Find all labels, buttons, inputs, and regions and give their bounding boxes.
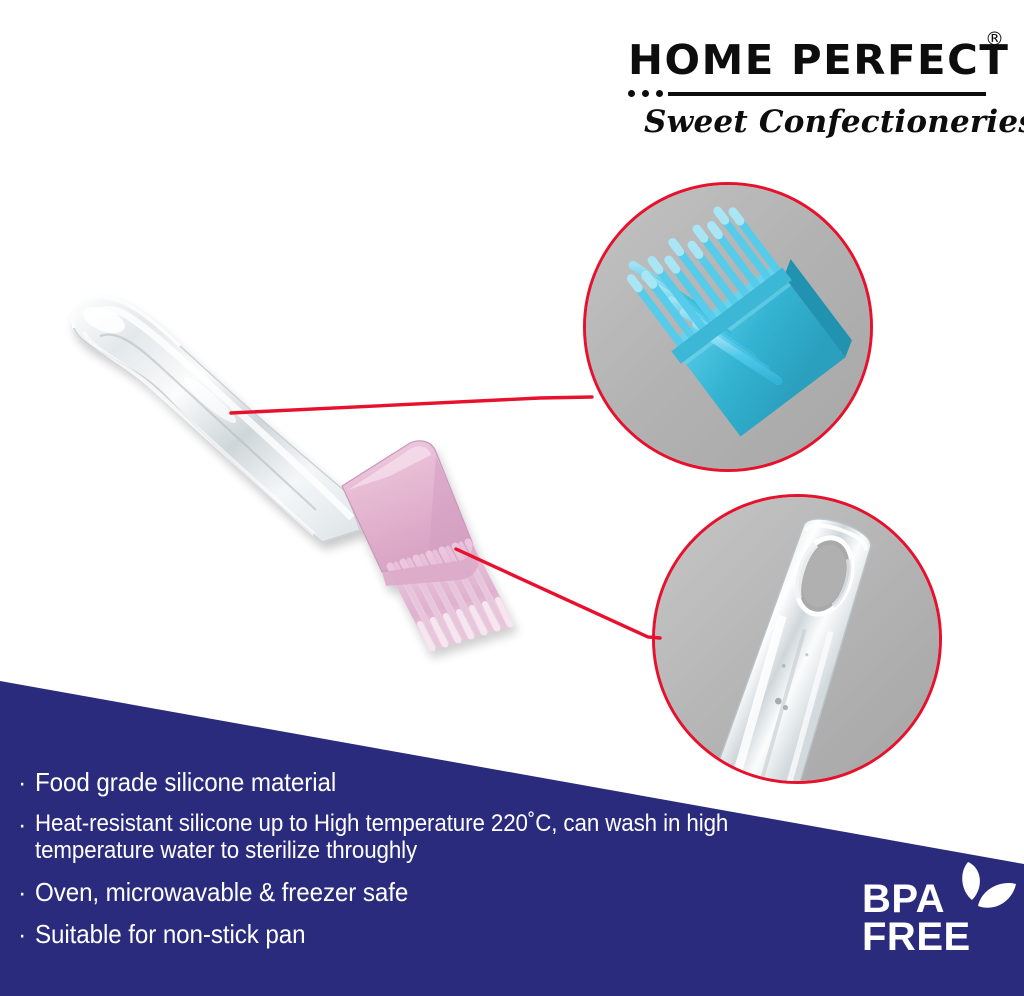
feature-text: Heat-resistant silicone up to High tempe… xyxy=(35,810,781,864)
feature-item: · Heat-resistant silicone up to High tem… xyxy=(18,810,838,864)
logo-dots-decoration xyxy=(628,90,663,97)
logo-underline-rule xyxy=(668,92,986,96)
registered-trademark-icon: ® xyxy=(985,30,1004,49)
product-marketing-image: HOME PERFECT ® Sweet Confectioneries xyxy=(0,0,1024,996)
brand-logo: HOME PERFECT ® Sweet Confectioneries xyxy=(600,28,1000,158)
bpa-free-badge: BPA FREE xyxy=(862,880,1012,980)
bullet-marker-icon: · xyxy=(18,812,26,838)
feature-text: Oven, microwavable & freezer safe xyxy=(35,878,408,907)
brand-tagline: Sweet Confectioneries xyxy=(644,104,994,140)
feature-text: Suitable for non-stick pan xyxy=(35,920,305,949)
bullet-marker-icon: · xyxy=(18,922,26,948)
product-image-pastry-brush xyxy=(60,280,590,670)
feature-item: · Suitable for non-stick pan xyxy=(18,920,838,949)
feature-item: · Food grade silicone material xyxy=(18,768,838,797)
bpa-label-line2: FREE xyxy=(862,918,1012,956)
brand-name: HOME PERFECT xyxy=(628,36,1009,84)
feature-item: · Oven, microwavable & freezer safe xyxy=(18,878,838,907)
bullet-marker-icon: · xyxy=(18,880,26,906)
bullet-marker-icon: · xyxy=(18,770,26,796)
callout-bristles xyxy=(583,182,873,472)
feature-list: · Food grade silicone material · Heat-re… xyxy=(18,768,838,962)
feature-text: Food grade silicone material xyxy=(35,768,336,797)
callout-hanging-hole xyxy=(652,494,942,784)
leaf-icon xyxy=(938,858,1018,920)
